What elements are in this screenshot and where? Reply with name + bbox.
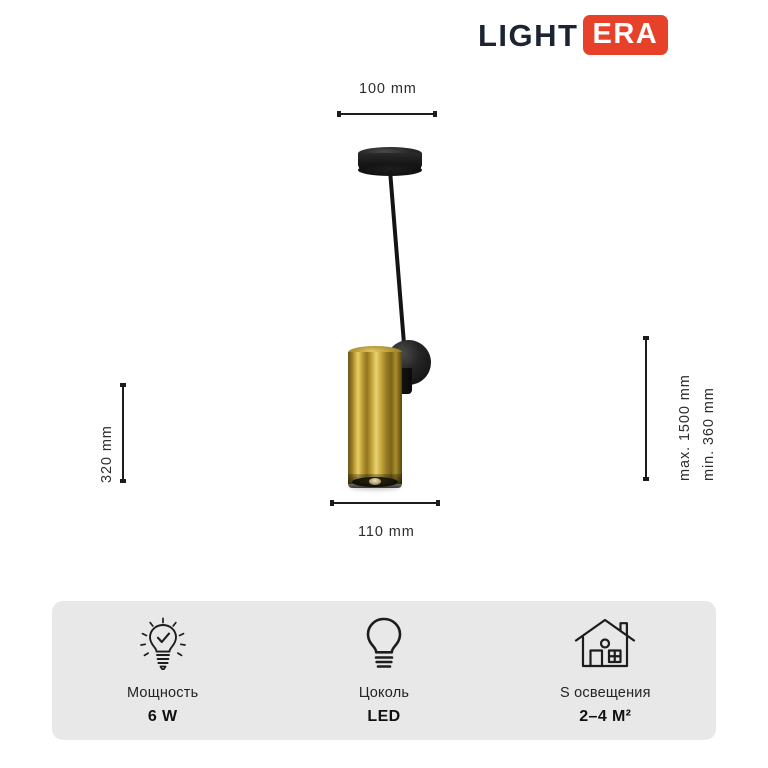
spec-title-socket: Цоколь <box>359 685 409 701</box>
bulb-icon <box>360 615 408 673</box>
spec-value-power: 6 W <box>148 708 178 726</box>
dimension-line-suspension <box>645 336 647 481</box>
product-spec-sheet: LIGHT ERA 100 mm 320 mm max. 1500 mm min… <box>0 0 768 768</box>
specifications-panel: Мощность 6 W Цоколь LED <box>52 601 716 740</box>
spec-item-area: S освещения 2–4 M² <box>495 601 716 740</box>
spec-title-area: S освещения <box>560 685 651 701</box>
suspension-cord <box>388 170 406 355</box>
dimension-line-body-height <box>122 383 124 483</box>
house-icon <box>572 615 638 673</box>
dimension-label-suspension-min: min. 360 mm <box>701 387 717 481</box>
dimension-label-suspension-max: max. 1500 mm <box>677 374 693 481</box>
dimension-label-bottom-width: 110 mm <box>358 524 415 540</box>
spec-item-socket: Цоколь LED <box>273 601 494 740</box>
spec-item-power: Мощность 6 W <box>52 601 273 740</box>
bulb-check-icon <box>135 615 191 673</box>
cylinder-drop-shadow <box>350 484 400 490</box>
dimension-label-body-height: 320 mm <box>99 425 115 483</box>
dimension-line-bottom-width <box>330 502 440 504</box>
spec-value-area: 2–4 M² <box>579 708 631 726</box>
cylinder-body-gold <box>348 352 402 484</box>
spec-title-power: Мощность <box>127 685 198 701</box>
spec-value-socket: LED <box>367 708 400 726</box>
product-illustration <box>0 0 768 560</box>
